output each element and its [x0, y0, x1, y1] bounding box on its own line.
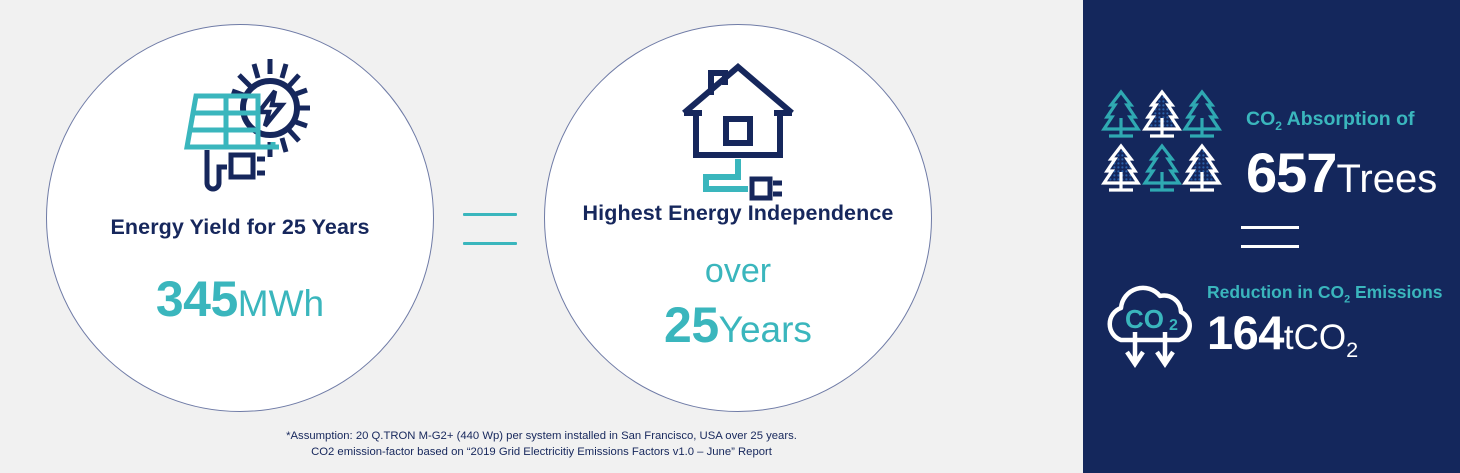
reduction-unit-subscript: 2 [1346, 337, 1358, 362]
footnote-line-1: *Assumption: 20 Q.TRON M-G2+ (440 Wp) pe… [0, 428, 1083, 444]
panel-equals-line-bottom [1241, 245, 1299, 248]
co2-summary-panel: CO2 Absorption of 657Trees CO 2 [1083, 0, 1460, 473]
trees-grid [1101, 88, 1223, 194]
pine-tree-icon [1182, 88, 1222, 140]
card-value-energy-yield: 345MWh [156, 270, 324, 328]
energy-yield-unit: MWh [238, 283, 324, 324]
equals-line-bottom [463, 242, 517, 245]
reduction-number: 164 [1207, 306, 1284, 359]
co2-label-suffix: Absorption of [1282, 108, 1415, 130]
panel-equals-line-top [1241, 226, 1299, 229]
co2-label-prefix: CO [1246, 108, 1275, 130]
pine-tree-icon [1101, 88, 1141, 140]
footnote-line-2: CO2 emission-factor based on “2019 Grid … [0, 444, 1083, 460]
card-value-energy-independence: 25Years [664, 296, 812, 354]
pine-tree-icon [1142, 88, 1182, 140]
co2-absorption-label: CO2 Absorption of [1246, 108, 1414, 133]
reduction-label-suffix: Emissions [1350, 282, 1442, 302]
reduction-unit: tCO2 [1284, 318, 1358, 357]
infographic-root: Energy Yield for 25 Years 345MWh [0, 0, 1460, 473]
trees-number: 657 [1246, 141, 1336, 204]
solar-panel-sun-plug-icon [165, 53, 315, 201]
card-title-energy-independence: Highest Energy Independence [583, 201, 894, 226]
pine-tree-icon [1142, 142, 1182, 194]
independence-number: 25 [664, 297, 719, 353]
pine-trees-grid-icon [1101, 88, 1223, 194]
co2-reduction-value: 164tCO2 [1207, 305, 1358, 363]
co2-reduction-label: Reduction in CO2 Emissions [1207, 282, 1443, 306]
co2-label-subscript: 2 [1275, 119, 1282, 133]
reduction-unit-prefix: tCO [1284, 318, 1346, 357]
card-title-energy-yield: Energy Yield for 25 Years [110, 215, 369, 240]
card-prefix-over: over [705, 254, 771, 288]
house-plug-icon [678, 61, 798, 201]
equals-line-top [463, 213, 517, 216]
svg-text:2: 2 [1169, 317, 1178, 334]
svg-text:CO: CO [1125, 304, 1164, 334]
card-energy-yield: Energy Yield for 25 Years 345MWh [46, 24, 434, 412]
trees-unit: Trees [1336, 157, 1437, 201]
pine-tree-icon [1182, 142, 1222, 194]
independence-unit: Years [719, 309, 812, 350]
co2-cloud-down-arrows-icon: CO 2 [1097, 276, 1201, 377]
energy-yield-number: 345 [156, 271, 238, 327]
footnote: *Assumption: 20 Q.TRON M-G2+ (440 Wp) pe… [0, 428, 1083, 460]
equals-icon [463, 213, 517, 245]
equals-icon [1241, 226, 1299, 248]
pine-tree-icon [1101, 142, 1141, 194]
card-energy-independence: Highest Energy Independence over 25Years [544, 24, 932, 412]
reduction-label-prefix: Reduction in CO [1207, 282, 1344, 302]
trees-value: 657Trees [1246, 140, 1437, 205]
